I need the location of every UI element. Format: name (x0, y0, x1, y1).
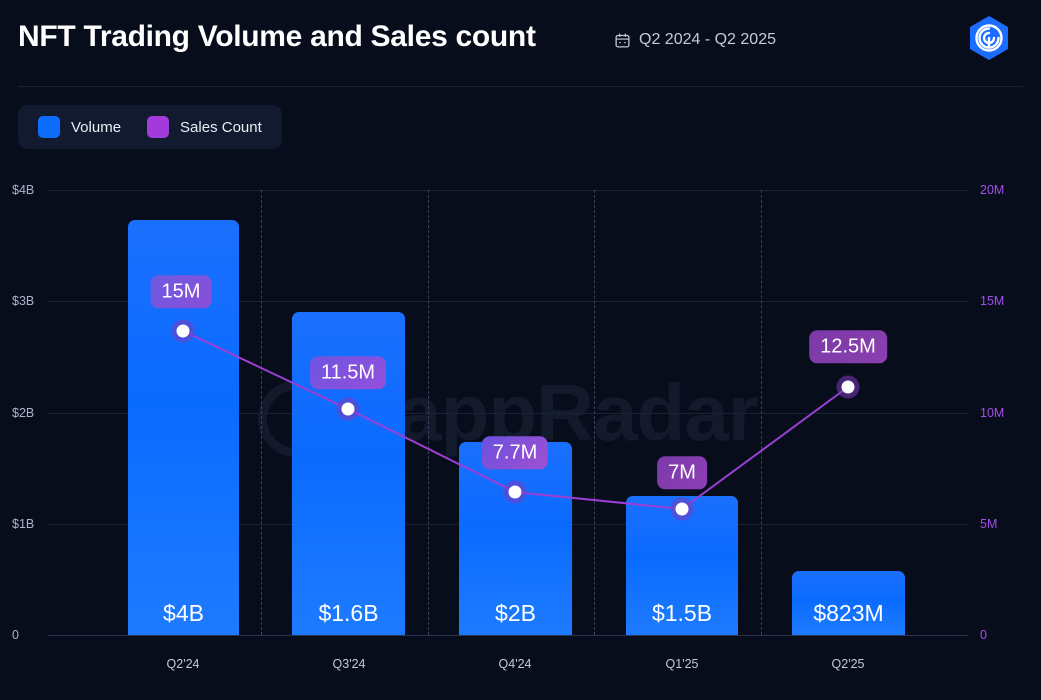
gridline-zero (48, 635, 968, 636)
category-separator-1 (261, 190, 262, 635)
bar-value-q225: $823M (792, 600, 905, 627)
data-point-q225[interactable] (842, 381, 855, 394)
bar-q224[interactable]: $4B (128, 220, 239, 635)
legend-swatch-sales-count (147, 116, 169, 138)
legend-label-volume: Volume (71, 119, 121, 136)
legend-item-volume[interactable]: Volume (38, 116, 121, 138)
category-separator-2 (428, 190, 429, 635)
dappradar-logo-icon[interactable] (965, 14, 1013, 62)
legend-swatch-volume (38, 116, 60, 138)
y-axis-right-tick-0: 20M (980, 183, 1004, 197)
data-label-q225: 12.5M (809, 330, 887, 363)
y-axis-left-tick-2: $2B (12, 406, 34, 420)
x-axis-tick-3: Q1'25 (666, 657, 699, 671)
calendar-icon (614, 32, 631, 49)
plot-area: DappRadar $4B $1.6B $2B $ (48, 190, 968, 635)
legend-item-sales-count[interactable]: Sales Count (147, 116, 262, 138)
chart-header: NFT Trading Volume and Sales count Q2 20… (0, 0, 1041, 86)
y-axis-left-tick-3: $1B (12, 517, 34, 531)
bar-value-q224: $4B (128, 600, 239, 627)
x-axis-tick-0: Q2'24 (167, 657, 200, 671)
y-axis-right-tick-3: 5M (980, 517, 997, 531)
bar-value-q125: $1.5B (626, 600, 738, 627)
bar-value-q324: $1.6B (292, 600, 405, 627)
category-separator-3 (594, 190, 595, 635)
x-axis-tick-1: Q3'24 (333, 657, 366, 671)
data-label-q125: 7M (657, 456, 707, 489)
y-axis-right-tick-4: 0 (980, 628, 987, 642)
date-range[interactable]: Q2 2024 - Q2 2025 (614, 31, 776, 49)
bar-value-q424: $2B (459, 600, 572, 627)
bar-q225[interactable]: $823M (792, 571, 905, 635)
legend-label-sales-count: Sales Count (180, 119, 262, 136)
bar-q324[interactable]: $1.6B (292, 312, 405, 635)
page-title: NFT Trading Volume and Sales count (18, 20, 536, 54)
x-axis-tick-2: Q4'24 (499, 657, 532, 671)
bar-q424[interactable]: $2B (459, 442, 572, 635)
gridline-4b (48, 190, 968, 191)
y-axis-left-tick-0: $4B (12, 183, 34, 197)
chart-screenshot: NFT Trading Volume and Sales count Q2 20… (0, 0, 1041, 700)
y-axis-left-tick-4: 0 (12, 628, 19, 642)
date-range-label: Q2 2024 - Q2 2025 (639, 31, 776, 49)
x-axis-tick-4: Q2'25 (832, 657, 865, 671)
category-separator-4 (761, 190, 762, 635)
header-divider (18, 86, 1023, 87)
y-axis-left-tick-1: $3B (12, 294, 34, 308)
chart-legend: Volume Sales Count (18, 105, 282, 149)
bar-q125[interactable]: $1.5B (626, 496, 738, 635)
y-axis-right-tick-1: 15M (980, 294, 1004, 308)
chart-plot: $4B $3B $2B $1B 0 20M 15M 10M 5M 0 Q2'24… (0, 160, 1041, 700)
y-axis-right-tick-2: 10M (980, 406, 1004, 420)
